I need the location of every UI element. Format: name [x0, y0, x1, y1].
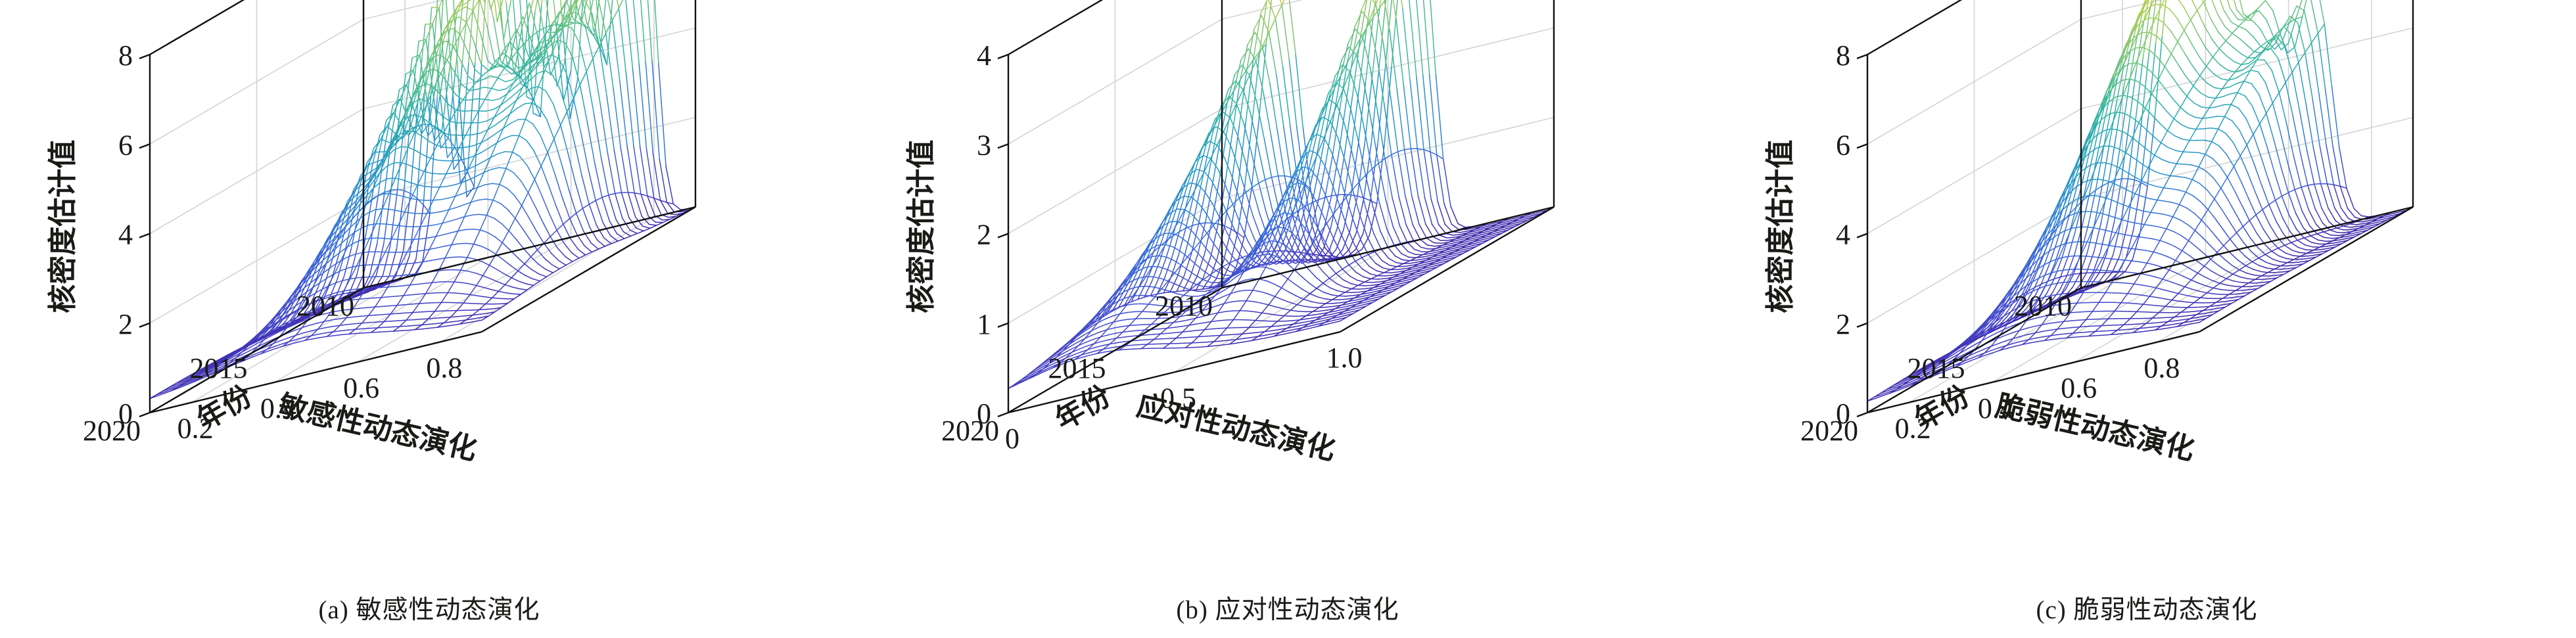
z-tick-label: 4	[1836, 219, 1850, 251]
z-tick-label: 3	[977, 129, 991, 161]
y-tick-label: 2010	[296, 290, 354, 322]
x-axis-title: 应对性动态演化	[1134, 390, 1338, 467]
y-tick-label: 2015	[190, 352, 248, 384]
z-axis-title: 核密度估计值	[47, 140, 79, 313]
y-tick-label: 2015	[1908, 352, 1965, 384]
z-tick-label: 8	[1836, 39, 1850, 72]
z-tick-label: 8	[118, 39, 133, 72]
z-tick-label: 4	[977, 39, 991, 72]
z-axis-title: 核密度估计值	[905, 140, 937, 313]
z-tick-label: 2	[1836, 308, 1850, 340]
z-tick-label: 4	[118, 219, 133, 251]
x-tick-label: 0	[1005, 422, 1019, 455]
y-tick-label: 2020	[1800, 415, 1858, 447]
panel-c-plot: 0 2 4 6 8 2020 2015 2010 0.2 0.4 0.6 0.8…	[1718, 0, 2576, 591]
x-tick-label: 0.8	[426, 352, 462, 384]
x-tick-label: 0.6	[343, 372, 379, 404]
panel-b-plot: 0 1 2 3 4 2020 2015 2010 0 0.5 1.0 核密度估计…	[858, 0, 1717, 591]
figure-root: 0 2 4 6 8 2020 2015 2010 0.2 0.4 0.6 0.8…	[0, 0, 2576, 638]
panel-a-plot: 0 2 4 6 8 2020 2015 2010 0.2 0.4 0.6 0.8…	[0, 0, 858, 591]
z-tick-label: 2	[977, 219, 991, 251]
panel-c: 0 2 4 6 8 2020 2015 2010 0.2 0.4 0.6 0.8…	[1718, 0, 2576, 638]
panel-b-caption: (b) 应对性动态演化	[858, 589, 1717, 626]
y-tick-label: 2010	[1155, 290, 1213, 322]
z-axis-title: 核密度估计值	[1764, 140, 1796, 313]
panel-a-caption: (a) 敏感性动态演化	[0, 589, 858, 626]
x-tick-label: 0.6	[2061, 372, 2097, 404]
panel-c-caption: (c) 脆弱性动态演化	[1718, 589, 2576, 626]
z-tick-label: 2	[118, 308, 133, 340]
z-tick-label: 6	[1836, 129, 1850, 161]
y-tick-label: 2015	[1048, 352, 1106, 384]
y-tick-label: 2010	[2014, 290, 2072, 322]
z-tick-label: 1	[977, 308, 991, 340]
panel-b: 0 1 2 3 4 2020 2015 2010 0 0.5 1.0 核密度估计…	[858, 0, 1717, 638]
x-tick-label: 0.8	[2143, 352, 2180, 384]
y-tick-label: 2020	[83, 415, 141, 447]
y-tick-label: 2020	[941, 415, 999, 447]
z-tick-label: 6	[118, 129, 133, 161]
panel-a: 0 2 4 6 8 2020 2015 2010 0.2 0.4 0.6 0.8…	[0, 0, 858, 638]
x-tick-label: 1.0	[1326, 342, 1363, 374]
